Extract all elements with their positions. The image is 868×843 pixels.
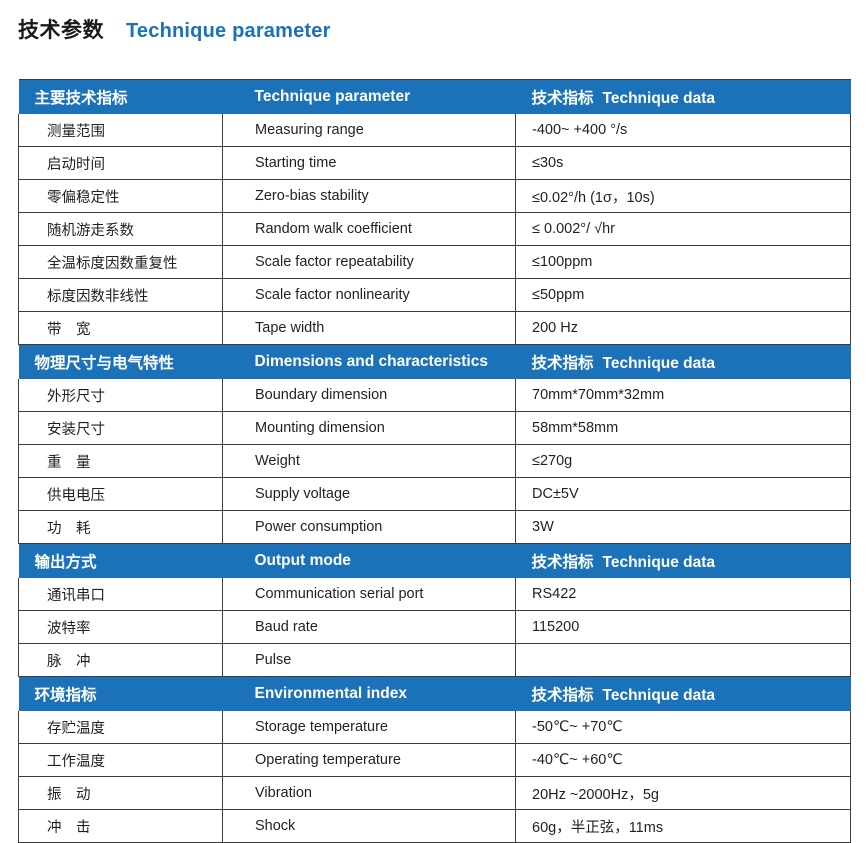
- data-column-header: 技术指标Technique data: [516, 345, 851, 380]
- section-header-cn: 输出方式: [19, 544, 223, 579]
- row-label-en: Weight: [223, 445, 516, 478]
- row-label-cn: 波特率: [19, 611, 223, 644]
- section-header-en: Output mode: [223, 544, 516, 579]
- section-header-row: 主要技术指标Technique parameter技术指标Technique d…: [19, 80, 851, 115]
- table-row: 安装尺寸Mounting dimension58mm*58mm: [19, 412, 851, 445]
- data-column-header-cn: 技术指标: [532, 90, 594, 107]
- row-label-cn: 重 量: [19, 445, 223, 478]
- row-value: ≤0.02°/h (1σ，10s): [516, 180, 851, 213]
- table-row: 功 耗Power consumption3W: [19, 511, 851, 544]
- row-label-en: Tape width: [223, 312, 516, 345]
- table-row: 全温标度因数重复性Scale factor repeatability≤100p…: [19, 246, 851, 279]
- row-label-en: Pulse: [223, 644, 516, 677]
- page-title-en: Technique parameter: [126, 20, 331, 43]
- data-column-header: 技术指标Technique data: [516, 677, 851, 712]
- table-row: 振 动Vibration20Hz ~2000Hz，5g: [19, 777, 851, 810]
- row-label-en: Baud rate: [223, 611, 516, 644]
- row-label-en: Random walk coefficient: [223, 213, 516, 246]
- section-header-row: 环境指标Environmental index技术指标Technique dat…: [19, 677, 851, 712]
- row-label-cn: 存贮温度: [19, 711, 223, 744]
- data-column-header-en: Technique data: [603, 554, 716, 571]
- table-row: 存贮温度Storage temperature-50℃~ +70℃: [19, 711, 851, 744]
- table-row: 重 量Weight≤270g: [19, 445, 851, 478]
- row-label-cn: 脉 冲: [19, 644, 223, 677]
- section-header-en: Dimensions and characteristics: [223, 345, 516, 380]
- row-label-en: Scale factor nonlinearity: [223, 279, 516, 312]
- section-header-cn: 环境指标: [19, 677, 223, 712]
- row-label-cn: 标度因数非线性: [19, 279, 223, 312]
- row-label-en: Communication serial port: [223, 578, 516, 611]
- section-header-row: 输出方式Output mode技术指标Technique data: [19, 544, 851, 579]
- data-column-header-en: Technique data: [603, 90, 716, 107]
- table-row: 带 宽Tape width200 Hz: [19, 312, 851, 345]
- table-row: 工作温度Operating temperature-40℃~ +60℃: [19, 744, 851, 777]
- data-column-header-cn: 技术指标: [532, 554, 594, 571]
- row-label-cn: 功 耗: [19, 511, 223, 544]
- row-label-cn: 通讯串口: [19, 578, 223, 611]
- data-column-header-en: Technique data: [603, 355, 716, 372]
- data-column-header-cn: 技术指标: [532, 355, 594, 372]
- row-label-cn: 安装尺寸: [19, 412, 223, 445]
- data-column-header: 技术指标Technique data: [516, 544, 851, 579]
- row-label-en: Power consumption: [223, 511, 516, 544]
- page-title-cn: 技术参数: [18, 14, 104, 44]
- row-value: [516, 644, 851, 677]
- row-value: 60g，半正弦，11ms: [516, 810, 851, 843]
- row-label-cn: 振 动: [19, 777, 223, 810]
- section-header-en: Environmental index: [223, 677, 516, 712]
- data-column-header: 技术指标Technique data: [516, 80, 851, 115]
- table-row: 波特率Baud rate115200: [19, 611, 851, 644]
- table-row: 标度因数非线性Scale factor nonlinearity≤50ppm: [19, 279, 851, 312]
- row-value: 70mm*70mm*32mm: [516, 379, 851, 412]
- row-label-en: Shock: [223, 810, 516, 843]
- row-value: -50℃~ +70℃: [516, 711, 851, 744]
- row-label-cn: 工作温度: [19, 744, 223, 777]
- row-value: ≤100ppm: [516, 246, 851, 279]
- row-label-cn: 启动时间: [19, 147, 223, 180]
- row-value: 58mm*58mm: [516, 412, 851, 445]
- row-label-en: Scale factor repeatability: [223, 246, 516, 279]
- row-value: -40℃~ +60℃: [516, 744, 851, 777]
- row-label-cn: 零偏稳定性: [19, 180, 223, 213]
- table-row: 脉 冲Pulse: [19, 644, 851, 677]
- row-label-cn: 外形尺寸: [19, 379, 223, 412]
- row-label-cn: 测量范围: [19, 114, 223, 147]
- row-label-cn: 冲 击: [19, 810, 223, 843]
- row-value: ≤50ppm: [516, 279, 851, 312]
- row-label-cn: 随机游走系数: [19, 213, 223, 246]
- row-label-en: Operating temperature: [223, 744, 516, 777]
- page-title: 技术参数 Technique parameter: [18, 14, 331, 44]
- section-header-cn: 主要技术指标: [19, 80, 223, 115]
- row-label-en: Zero-bias stability: [223, 180, 516, 213]
- section-header-en: Technique parameter: [223, 80, 516, 115]
- table-row: 测量范围Measuring range-400~ +400 °/s: [19, 114, 851, 147]
- section-header-row: 物理尺寸与电气特性Dimensions and characteristics技…: [19, 345, 851, 380]
- row-label-en: Storage temperature: [223, 711, 516, 744]
- row-label-en: Vibration: [223, 777, 516, 810]
- row-value: 3W: [516, 511, 851, 544]
- row-label-en: Measuring range: [223, 114, 516, 147]
- row-value: DC±5V: [516, 478, 851, 511]
- row-label-en: Boundary dimension: [223, 379, 516, 412]
- row-value: 20Hz ~2000Hz，5g: [516, 777, 851, 810]
- row-value: 200 Hz: [516, 312, 851, 345]
- row-value: RS422: [516, 578, 851, 611]
- table-row: 供电电压Supply voltageDC±5V: [19, 478, 851, 511]
- data-column-header-en: Technique data: [603, 687, 716, 704]
- table-row: 通讯串口Communication serial portRS422: [19, 578, 851, 611]
- row-value: -400~ +400 °/s: [516, 114, 851, 147]
- row-label-en: Supply voltage: [223, 478, 516, 511]
- table-row: 冲 击Shock60g，半正弦，11ms: [19, 810, 851, 843]
- row-value: ≤30s: [516, 147, 851, 180]
- data-column-header-cn: 技术指标: [532, 687, 594, 704]
- row-label-cn: 带 宽: [19, 312, 223, 345]
- table-row: 随机游走系数Random walk coefficient≤ 0.002°/ √…: [19, 213, 851, 246]
- row-label-en: Starting time: [223, 147, 516, 180]
- table-row: 启动时间Starting time≤30s: [19, 147, 851, 180]
- technique-parameter-table: 主要技术指标Technique parameter技术指标Technique d…: [18, 79, 851, 843]
- row-label-cn: 全温标度因数重复性: [19, 246, 223, 279]
- row-value: ≤270g: [516, 445, 851, 478]
- table-row: 零偏稳定性Zero-bias stability≤0.02°/h (1σ，10s…: [19, 180, 851, 213]
- section-header-cn: 物理尺寸与电气特性: [19, 345, 223, 380]
- row-value: ≤ 0.002°/ √hr: [516, 213, 851, 246]
- table-row: 外形尺寸Boundary dimension70mm*70mm*32mm: [19, 379, 851, 412]
- row-label-cn: 供电电压: [19, 478, 223, 511]
- row-label-en: Mounting dimension: [223, 412, 516, 445]
- row-value: 115200: [516, 611, 851, 644]
- table-body: 主要技术指标Technique parameter技术指标Technique d…: [19, 80, 851, 843]
